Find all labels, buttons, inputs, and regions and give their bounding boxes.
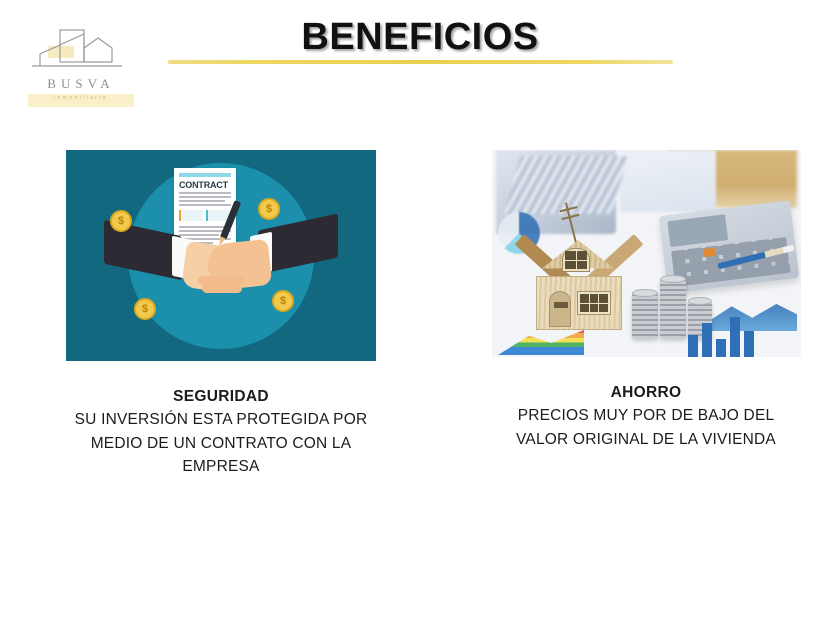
document-line — [179, 200, 225, 202]
benefit-title: SEGURIDAD — [41, 385, 401, 408]
rainbow-line-chart — [498, 329, 584, 355]
document-field — [179, 210, 203, 221]
dollar-coin-icon: $ — [272, 290, 294, 312]
calculator-display — [667, 214, 728, 247]
benefit-description: PRECIOS MUY POR DE BAJO DEL VALOR ORIGIN… — [476, 404, 816, 451]
financial-charts-graphic — [492, 305, 801, 357]
model-house-coins-calculator-photo — [492, 150, 801, 357]
chart-bar — [716, 339, 726, 357]
document-line — [179, 234, 219, 236]
document-line — [179, 192, 231, 194]
chart-bar — [702, 323, 712, 357]
contract-label: CONTRACT — [179, 180, 231, 190]
benefit-caption-ahorro: AHORRO PRECIOS MUY POR DE BAJO DEL VALOR… — [476, 381, 816, 451]
benefits-cards: CONTRACT — [0, 0, 840, 630]
calculator-accent-key — [703, 248, 716, 257]
benefit-card-seguridad: CONTRACT — [66, 150, 376, 479]
handshake-contract-illustration: CONTRACT — [66, 150, 376, 361]
chart-bar — [730, 317, 740, 357]
document-line — [179, 196, 231, 198]
dollar-coin-icon: $ — [134, 298, 156, 320]
document-line — [179, 204, 231, 206]
dollar-coin-icon: $ — [258, 198, 280, 220]
dollar-coin-icon: $ — [110, 210, 132, 232]
benefit-card-ahorro: AHORRO PRECIOS MUY POR DE BAJO DEL VALOR… — [492, 150, 801, 451]
benefit-description: SU INVERSIÓN ESTA PROTEGIDA POR MEDIO DE… — [41, 408, 401, 479]
benefit-title: AHORRO — [476, 381, 816, 404]
document-top-bar — [179, 173, 231, 177]
chart-bar — [688, 335, 698, 357]
laptop-screen — [620, 150, 716, 212]
benefit-image-seguridad: CONTRACT — [66, 150, 376, 361]
chart-bar — [744, 331, 754, 357]
benefit-caption-seguridad: SEGURIDAD SU INVERSIÓN ESTA PROTEGIDA PO… — [41, 385, 401, 479]
house-attic-window — [562, 248, 590, 272]
benefit-image-ahorro — [492, 150, 801, 357]
hand-finger — [202, 284, 242, 293]
